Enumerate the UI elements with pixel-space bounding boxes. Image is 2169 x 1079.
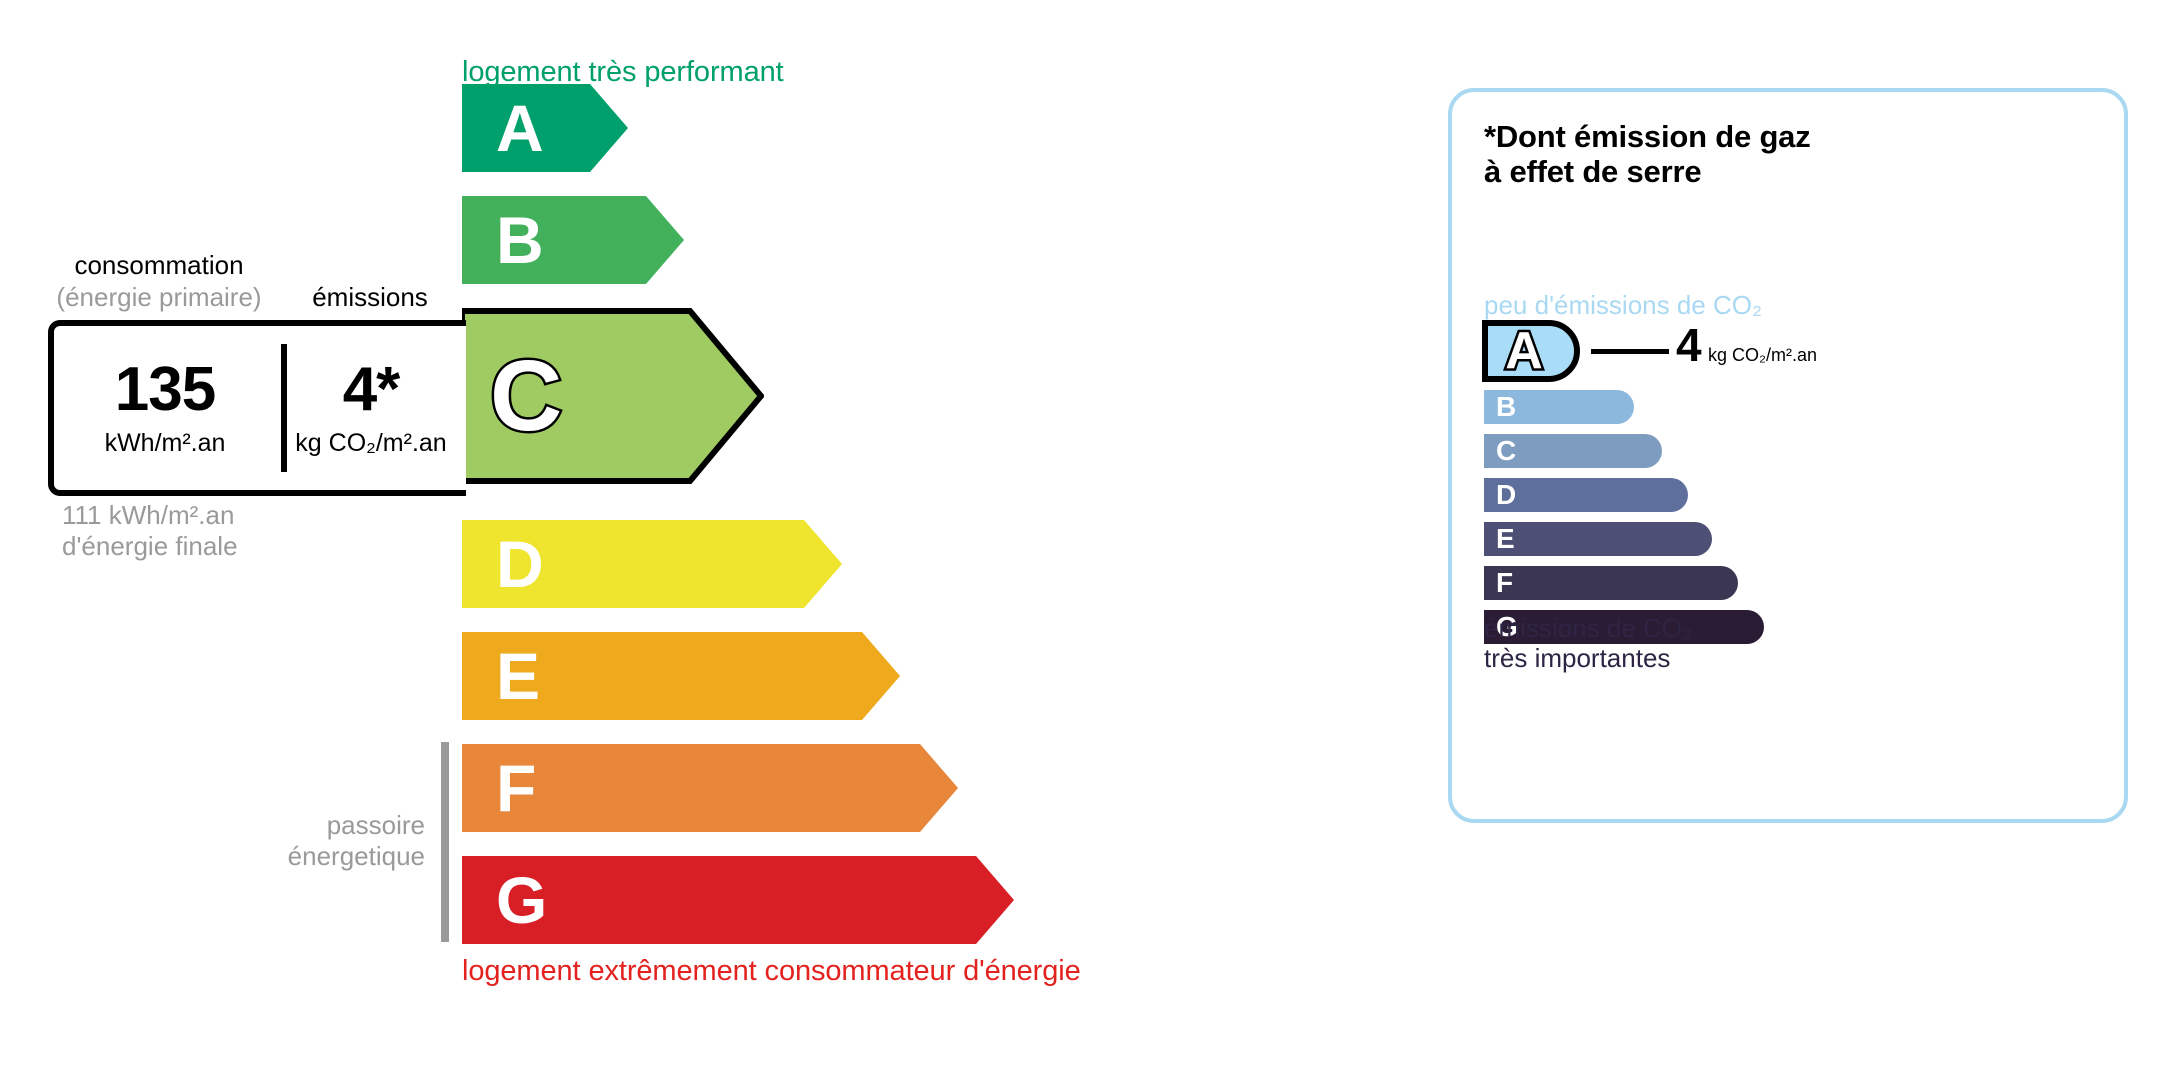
energy-band-b[interactable]: B xyxy=(462,196,684,284)
co2-leader-line xyxy=(1591,349,1669,354)
co2-band-a-selected[interactable]: A xyxy=(1482,320,1580,382)
energy-band-e[interactable]: E xyxy=(462,632,900,720)
co2-bottom-caption-line2: très importantes xyxy=(1484,643,1670,673)
scale-bottom-caption: logement extrêmement consommateur d'éner… xyxy=(462,955,1081,988)
co2-band-c-letter: C xyxy=(1496,437,1516,465)
co2-band-e[interactable]: E xyxy=(1484,522,1712,556)
co2-top-caption: peu d'émissions de CO₂ xyxy=(1484,290,1762,321)
band-d-shape xyxy=(462,520,842,608)
co2-band-f-bar xyxy=(1484,566,1738,600)
label-emissions: émissions xyxy=(275,282,465,313)
final-energy-line1: 111 kWh/m².an xyxy=(62,500,234,530)
energy-band-a[interactable]: A xyxy=(462,84,628,172)
co2-bottom-caption: émissions de CO₂ très importantes xyxy=(1484,614,1692,673)
emission-cell: 4* kg CO₂/m².an xyxy=(276,326,466,490)
co2-band-b[interactable]: B xyxy=(1484,390,1634,424)
label-consommation: consommation (énergie primaire) xyxy=(48,250,270,313)
co2-band-e-letter: E xyxy=(1496,525,1515,553)
label-consommation-sub: (énergie primaire) xyxy=(48,282,270,313)
band-g-shape xyxy=(462,856,1014,944)
band-a-shape xyxy=(462,84,628,172)
co2-value: 4 xyxy=(1676,322,1702,368)
consumption-cell: 135 kWh/m².an xyxy=(54,326,276,490)
co2-band-e-bar xyxy=(1484,522,1712,556)
co2-band-a-letter: A xyxy=(1505,325,1543,377)
co2-band-f-letter: F xyxy=(1496,569,1513,597)
passoire-label-line2: énergetique xyxy=(288,841,425,871)
consumption-value: 135 xyxy=(115,359,215,421)
energy-band-c-selected[interactable]: C xyxy=(462,308,764,484)
energy-consumption-scale: logement très performant A B C xyxy=(0,0,1400,1079)
band-c-shape xyxy=(462,308,764,484)
co2-value-unit: kg CO₂/m².an xyxy=(1708,345,1817,366)
value-box: 135 kWh/m².an 4* kg CO₂/m².an xyxy=(48,320,466,496)
co2-band-f[interactable]: F xyxy=(1484,566,1738,600)
final-energy-note: 111 kWh/m².an d'énergie finale xyxy=(62,500,238,561)
passoire-label-line1: passoire xyxy=(327,810,425,840)
co2-panel: *Dont émission de gaz à effet de serre p… xyxy=(1448,88,2128,823)
co2-band-d[interactable]: D xyxy=(1484,478,1688,512)
co2-panel-title: *Dont émission de gaz à effet de serre xyxy=(1484,120,1811,189)
co2-band-d-letter: D xyxy=(1496,481,1516,509)
co2-title-line1: *Dont émission de gaz xyxy=(1484,119,1811,154)
label-consommation-main: consommation xyxy=(74,250,243,280)
passoire-bracket xyxy=(441,742,449,942)
band-e-shape xyxy=(462,632,900,720)
energy-band-f[interactable]: F xyxy=(462,744,958,832)
energy-band-g[interactable]: G xyxy=(462,856,1014,944)
co2-bottom-caption-line1: émissions de CO₂ xyxy=(1484,613,1692,643)
band-f-shape xyxy=(462,744,958,832)
band-b-shape xyxy=(462,196,684,284)
co2-band-c[interactable]: C xyxy=(1484,434,1662,468)
passoire-label: passoire énergetique xyxy=(245,810,425,871)
co2-title-line2: à effet de serre xyxy=(1484,154,1701,189)
dpe-label: logement très performant A B C xyxy=(0,0,2169,1079)
emission-unit: kg CO₂/m².an xyxy=(295,429,446,458)
consumption-unit: kWh/m².an xyxy=(105,429,226,458)
emission-value: 4* xyxy=(343,359,400,421)
energy-band-d[interactable]: D xyxy=(462,520,842,608)
final-energy-line2: d'énergie finale xyxy=(62,531,238,561)
co2-band-b-letter: B xyxy=(1496,393,1516,421)
